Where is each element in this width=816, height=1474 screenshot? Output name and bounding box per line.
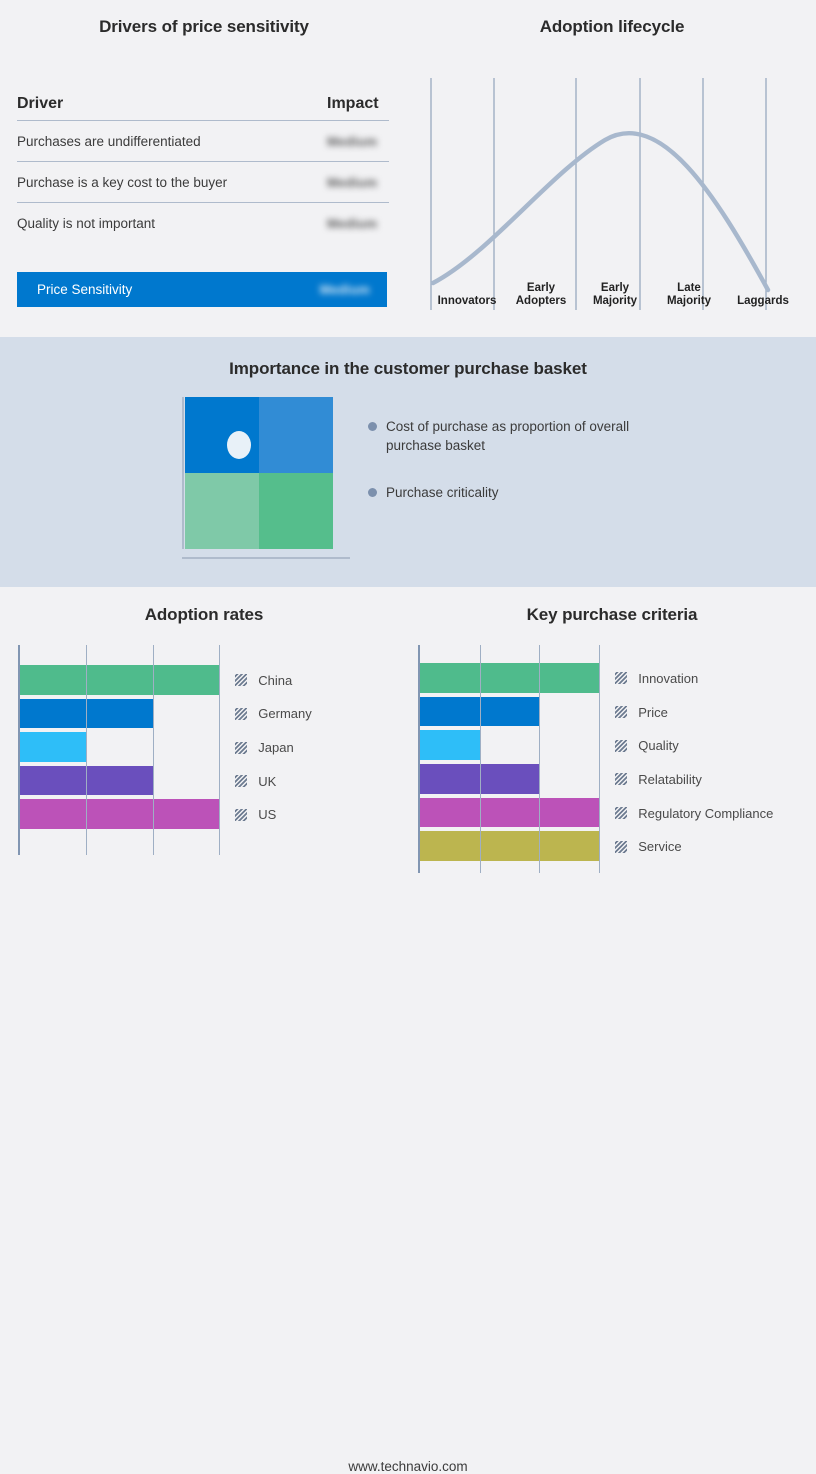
price-sensitivity-highlight-row: Price Sensitivity Medium <box>17 272 387 307</box>
impact-value: Medium <box>327 134 389 149</box>
legend-swatch-icon <box>615 807 627 819</box>
basket-title: Importance in the customer purchase bask… <box>0 359 816 379</box>
segment-line2: Adopters <box>516 295 566 308</box>
bar-service <box>420 831 599 861</box>
bar-row <box>20 797 217 831</box>
legend-label: Germany <box>258 706 311 721</box>
adoption-bell-curve <box>433 133 768 290</box>
quadrant-cell-bottom-right <box>259 473 333 549</box>
bullet-dot-icon <box>368 422 377 431</box>
bar-row <box>420 796 597 830</box>
bar-row <box>420 762 597 796</box>
gridline <box>480 645 481 873</box>
bar-china <box>20 665 219 695</box>
bullet-dot-icon <box>368 488 377 497</box>
legend-label: Cost of purchase as proportion of overal… <box>386 417 636 455</box>
purchase-basket-section: Importance in the customer purchase bask… <box>0 337 816 587</box>
legend-swatch-icon <box>235 809 247 821</box>
legend-label: Quality <box>638 738 678 753</box>
bar-row <box>420 695 597 729</box>
legend-item: Relatability <box>615 772 702 787</box>
legend-label: Japan <box>258 740 293 755</box>
bar-row <box>420 829 597 863</box>
lifecycle-segment-labels: Innovators Early Adopters Early Majority… <box>430 274 800 310</box>
gridline <box>599 645 600 873</box>
gridline <box>86 645 87 855</box>
drivers-title: Drivers of price sensitivity <box>0 17 408 37</box>
adoption-rates-title: Adoption rates <box>0 605 408 625</box>
basket-legend: Cost of purchase as proportion of overal… <box>368 417 658 530</box>
legend-label: Regulatory Compliance <box>638 806 773 821</box>
legend-item: US <box>235 807 276 822</box>
criteria-bars <box>420 661 597 863</box>
impact-value: Medium <box>327 175 389 190</box>
segment-line2: Majority <box>667 295 711 308</box>
legend-item: Innovation <box>615 671 698 686</box>
adoption-rates-panel: Adoption rates ChinaGermanyJapanUKUS <box>0 587 408 902</box>
key-purchase-criteria-panel: Key purchase criteria InnovationPriceQua… <box>408 587 816 902</box>
legend-label: Relatability <box>638 772 702 787</box>
footer-url: www.technavio.com <box>0 1459 816 1474</box>
driver-label: Quality is not important <box>17 216 155 231</box>
criteria-legend: InnovationPriceQualityRelatabilityRegula… <box>615 645 810 873</box>
bottom-section: Adoption rates ChinaGermanyJapanUKUS Key… <box>0 587 816 902</box>
legend-label: US <box>258 807 276 822</box>
bar-us <box>20 799 219 829</box>
legend-item: Quality <box>615 738 678 753</box>
bar-row <box>20 730 217 764</box>
adoption-legend: ChinaGermanyJapanUKUS <box>235 645 390 855</box>
segment-early-majority: Early Majority <box>578 274 652 310</box>
gridline <box>539 645 540 873</box>
legend-item: China <box>235 673 292 688</box>
adoption-plot-area <box>18 645 217 855</box>
legend-swatch-icon <box>615 841 627 853</box>
legend-label: Purchase criticality <box>386 483 499 502</box>
legend-item: Japan <box>235 740 293 755</box>
price-sensitivity-impact: Medium <box>320 282 370 297</box>
bar-regulatory-compliance <box>420 798 599 828</box>
column-header-impact: Impact <box>327 95 389 113</box>
quadrant-position-marker <box>227 431 251 459</box>
legend-swatch-icon <box>615 773 627 785</box>
bar-row <box>20 764 217 798</box>
quadrant-cell-bottom-left <box>185 473 259 549</box>
legend-swatch-icon <box>615 672 627 684</box>
bar-row <box>20 663 217 697</box>
quadrant-grid <box>185 397 333 549</box>
legend-label: UK <box>258 774 276 789</box>
impact-value: Medium <box>327 216 389 231</box>
bar-row <box>420 728 597 762</box>
quadrant-chart <box>172 397 350 569</box>
legend-swatch-icon <box>235 742 247 754</box>
key-purchase-criteria-chart: InnovationPriceQualityRelatabilityRegula… <box>418 645 810 873</box>
segment-line2: Majority <box>593 295 637 308</box>
legend-swatch-icon <box>235 708 247 720</box>
table-header-row: Driver Impact <box>17 88 389 121</box>
gridline <box>219 645 220 855</box>
legend-item: UK <box>235 774 276 789</box>
bar-row <box>420 661 597 695</box>
segment-late-majority: Late Majority <box>652 274 726 310</box>
table-row: Purchase is a key cost to the buyer Medi… <box>17 162 389 203</box>
adoption-bars <box>20 663 217 831</box>
legend-label: Service <box>638 839 681 854</box>
legend-item: Cost of purchase as proportion of overal… <box>368 417 658 455</box>
legend-item: Germany <box>235 706 311 721</box>
gridline <box>153 645 154 855</box>
bar-row <box>20 697 217 731</box>
criteria-plot-area <box>418 645 597 873</box>
drivers-panel: Drivers of price sensitivity Driver Impa… <box>0 0 408 337</box>
price-sensitivity-label: Price Sensitivity <box>37 282 132 297</box>
bar-innovation <box>420 663 599 693</box>
legend-swatch-icon <box>235 775 247 787</box>
quadrant-cell-top-right <box>259 397 333 473</box>
legend-item: Purchase criticality <box>368 483 658 502</box>
drivers-table: Driver Impact Purchases are undifferenti… <box>17 88 389 244</box>
table-row: Quality is not important Medium <box>17 203 389 244</box>
driver-label: Purchases are undifferentiated <box>17 134 201 149</box>
legend-item: Service <box>615 839 681 854</box>
table-row: Purchases are undifferentiated Medium <box>17 121 389 162</box>
legend-label: Price <box>638 705 668 720</box>
quadrant-y-axis <box>182 397 184 549</box>
segment-innovators: Innovators <box>430 274 504 310</box>
bar-quality <box>420 730 480 760</box>
legend-swatch-icon <box>615 706 627 718</box>
segment-line1: Late <box>677 282 701 295</box>
legend-item: Regulatory Compliance <box>615 806 773 821</box>
segment-early-adopters: Early Adopters <box>504 274 578 310</box>
legend-label: China <box>258 673 292 688</box>
legend-swatch-icon <box>615 740 627 752</box>
segment-line2: Laggards <box>737 295 789 308</box>
legend-item: Price <box>615 705 668 720</box>
legend-label: Innovation <box>638 671 698 686</box>
legend-swatch-icon <box>235 674 247 686</box>
bar-japan <box>20 732 86 762</box>
quadrant-x-axis <box>182 557 350 559</box>
adoption-rates-chart: ChinaGermanyJapanUKUS <box>18 645 390 855</box>
segment-line2: Innovators <box>438 295 497 308</box>
segment-line1: Early <box>601 282 629 295</box>
driver-label: Purchase is a key cost to the buyer <box>17 175 227 190</box>
column-header-driver: Driver <box>17 95 63 113</box>
lifecycle-panel: Adoption lifecycle Innovators <box>408 0 816 337</box>
segment-laggards: Laggards <box>726 274 800 310</box>
key-purchase-criteria-title: Key purchase criteria <box>408 605 816 625</box>
segment-line1: Early <box>527 282 555 295</box>
top-section: Drivers of price sensitivity Driver Impa… <box>0 0 816 337</box>
lifecycle-title: Adoption lifecycle <box>408 17 816 37</box>
